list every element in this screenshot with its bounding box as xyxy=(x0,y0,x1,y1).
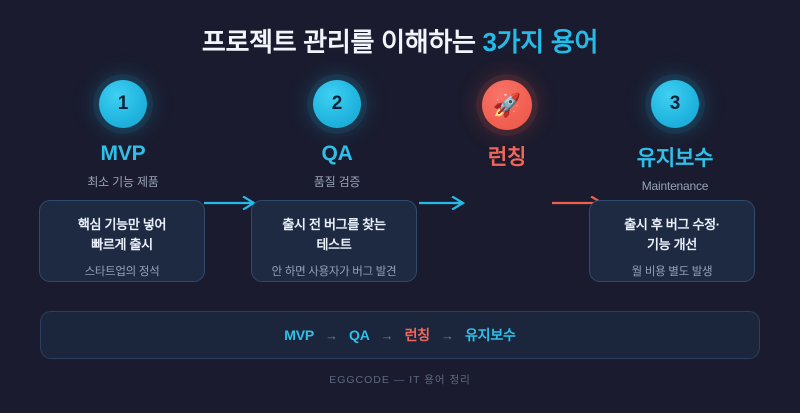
card-line-2: 테스트 xyxy=(252,235,416,255)
card-line-2: 기능 개선 xyxy=(590,235,754,255)
summary-separator-icon: → xyxy=(441,328,454,343)
summary-bar: MVP → QA → 런칭 → 유지보수 xyxy=(40,311,760,359)
card-line-2: 빠르게 출시 xyxy=(40,235,204,255)
summary-separator-icon: → xyxy=(381,328,394,343)
detail-card-qa: 출시 전 버그를 찾는 테스트 안 하면 사용자가 버그 발견 xyxy=(251,200,417,282)
step-maintenance: 3 유지보수 Maintenance xyxy=(590,80,760,193)
step-mvp: 1 MVP 최소 기능 제품 xyxy=(38,80,208,190)
step-subtitle-maintenance: Maintenance xyxy=(590,179,760,193)
card-line-1: 핵심 기능만 넣어 xyxy=(40,215,204,235)
step-badge-1: 1 xyxy=(99,80,147,128)
summary-separator-icon: → xyxy=(325,328,338,343)
card-note: 스타트업의 정석 xyxy=(40,263,204,279)
detail-card-maintenance: 출시 후 버그 수정· 기능 개선 월 비용 별도 발생 xyxy=(589,200,755,282)
summary-item-maintenance: 유지보수 xyxy=(465,325,516,345)
step-launch: 🚀 런칭 xyxy=(422,80,592,171)
card-note: 월 비용 별도 발생 xyxy=(590,263,754,279)
summary-item-qa: QA xyxy=(349,327,370,343)
infographic-canvas: 프로젝트 관리를 이해하는 3가지 용어 1 MVP 최소 기능 제품 2 QA… xyxy=(0,0,800,413)
step-name-qa: QA xyxy=(252,142,422,166)
page-title: 프로젝트 관리를 이해하는 3가지 용어 xyxy=(0,22,800,59)
rocket-icon: 🚀 xyxy=(482,80,532,130)
footer-credit: EGGCODE — IT 용어 정리 xyxy=(0,372,800,387)
step-name-launch: 런칭 xyxy=(422,141,592,171)
arrow-qa-to-launch-icon xyxy=(419,196,469,210)
page-title-accent: 3가지 용어 xyxy=(483,27,599,57)
card-note: 안 하면 사용자가 버그 발견 xyxy=(252,263,416,279)
step-subtitle-qa: 품질 검증 xyxy=(252,173,422,190)
steps-row: 1 MVP 최소 기능 제품 2 QA 품질 검증 🚀 런칭 3 유지보수 Ma… xyxy=(0,80,800,195)
step-badge-2: 2 xyxy=(313,80,361,128)
step-name-mvp: MVP xyxy=(38,142,208,166)
page-title-main: 프로젝트 관리를 이해하는 xyxy=(202,27,483,57)
card-line-1: 출시 후 버그 수정· xyxy=(590,215,754,235)
step-subtitle-mvp: 최소 기능 제품 xyxy=(38,173,208,190)
step-qa: 2 QA 품질 검증 xyxy=(252,80,422,190)
step-badge-3: 3 xyxy=(651,80,699,128)
card-line-1: 출시 전 버그를 찾는 xyxy=(252,215,416,235)
summary-item-launch: 런칭 xyxy=(405,325,430,345)
step-name-maintenance: 유지보수 xyxy=(590,142,760,172)
summary-item-mvp: MVP xyxy=(284,327,314,343)
detail-card-mvp: 핵심 기능만 넣어 빠르게 출시 스타트업의 정석 xyxy=(39,200,205,282)
